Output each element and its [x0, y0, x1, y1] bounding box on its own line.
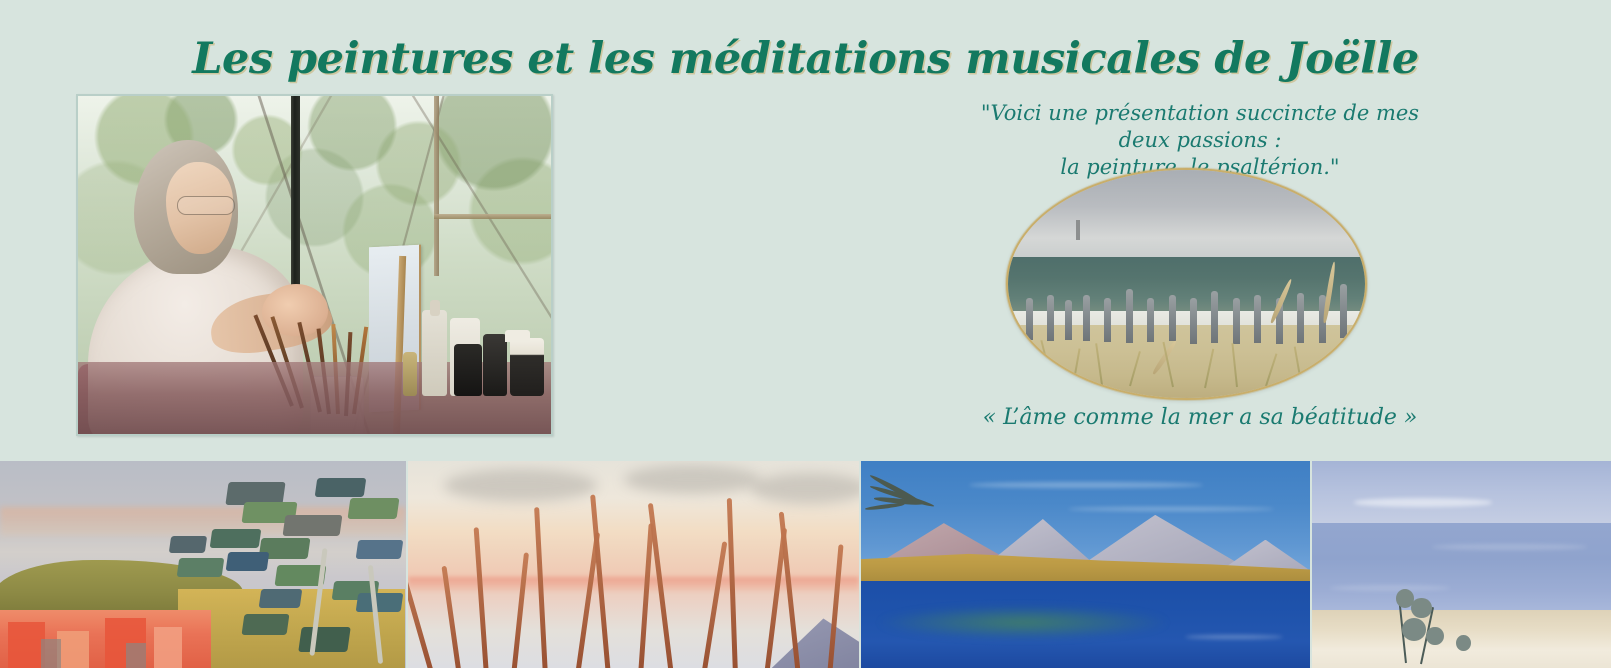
painting1-glow [0, 507, 406, 536]
painting1-roof [57, 631, 89, 668]
fence-post [1065, 300, 1072, 340]
painting1-roof [8, 622, 44, 668]
painting1-canopy [282, 515, 342, 536]
ink-bottle [483, 334, 507, 396]
fence-post [1047, 295, 1054, 341]
painting1-canopy [242, 614, 290, 635]
page-title: Les peintures et les méditations musical… [0, 31, 1611, 87]
ink-bottle [454, 344, 482, 396]
portrait-photo-frame[interactable] [76, 94, 553, 436]
gallery-item[interactable] [0, 461, 406, 668]
fence-post [1126, 289, 1133, 343]
window-frame-horizontal [434, 214, 551, 219]
gallery-item[interactable] [408, 461, 859, 668]
painting1-canopy [315, 478, 366, 497]
fence-post [1297, 293, 1304, 343]
fence-post [1211, 291, 1218, 343]
gallery-item[interactable] [861, 461, 1310, 668]
painting-sky [1008, 170, 1365, 261]
jar-lid [505, 330, 530, 342]
lighthouse [1076, 220, 1080, 240]
featured-painting-caption: « L’âme comme la mer a sa béatitude » [955, 405, 1445, 430]
painting1-canopy [298, 627, 350, 652]
fence-post [1233, 298, 1240, 344]
paint-bottle [422, 310, 447, 396]
fence-post [1104, 298, 1111, 342]
painting1-canopy [258, 589, 301, 608]
fence-post [1083, 295, 1090, 341]
painting4-shrub [1402, 618, 1426, 641]
painting1-canopy [356, 593, 403, 612]
painting4-shrub [1456, 635, 1471, 652]
eyeglasses-icon [177, 196, 235, 215]
window-frame-vertical [434, 96, 439, 276]
painting4-shrub [1426, 627, 1444, 646]
painting4-wave [1354, 498, 1491, 506]
featured-painting[interactable] [1006, 168, 1367, 400]
painting3-cloud-streak [969, 482, 1203, 488]
gallery-item[interactable] [1312, 461, 1611, 668]
painting1-canopy [347, 498, 399, 519]
painting-sea [1008, 257, 1365, 316]
painting1-roof [154, 627, 182, 668]
painting-dune [1008, 325, 1365, 398]
painting1-canopy [169, 536, 208, 553]
painting3-wavecrest [1185, 635, 1284, 639]
fence-post [1340, 284, 1347, 338]
portrait-photo [78, 96, 551, 434]
paint-jar [510, 338, 544, 396]
bottle-cap [430, 300, 440, 316]
painting1-canopy [177, 558, 224, 577]
painting4-wave [1432, 544, 1587, 550]
painting4-shrub [1411, 598, 1432, 619]
page-root: Les peintures et les méditations musical… [0, 0, 1611, 668]
paint-tube [403, 352, 417, 396]
painting4-sea [1312, 523, 1611, 614]
painting1-wall [41, 639, 61, 668]
painting1-canopy [210, 529, 261, 548]
painting1-canopy [226, 552, 269, 571]
painting3-reflection [879, 606, 1167, 639]
fence-post [1147, 298, 1154, 342]
painting4-sky [1312, 461, 1611, 531]
fence-post [1026, 298, 1033, 340]
painting2-cloud [624, 465, 759, 494]
fence-post [1169, 295, 1176, 341]
painting1-wall [126, 643, 146, 668]
featured-painting-canvas [1008, 170, 1365, 398]
fence-post [1254, 295, 1261, 343]
painting3-cloud-streak [1068, 507, 1275, 511]
intro-quote-line-1: "Voici une présentation succincte de mes… [955, 100, 1445, 154]
gallery-strip [0, 461, 1611, 668]
painting1-canopy [356, 540, 403, 559]
fence-post [1190, 298, 1197, 344]
